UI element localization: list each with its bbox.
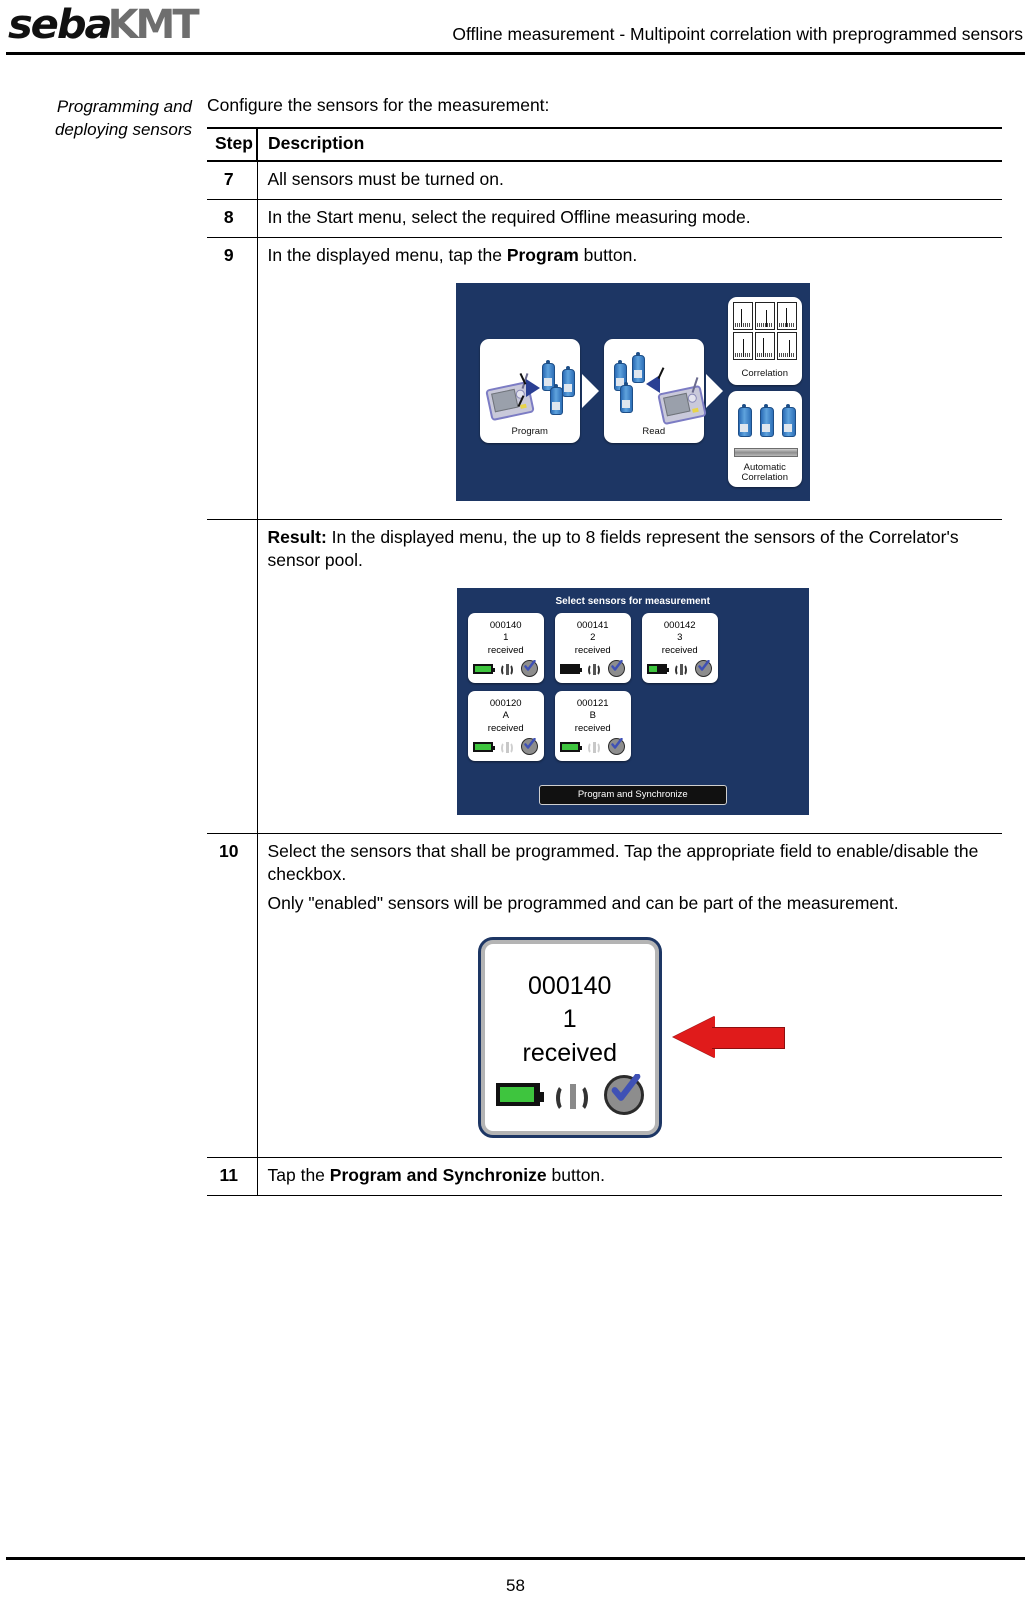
table-head: Step Description: [207, 128, 1002, 161]
red-pointer-arrow-icon: [673, 1016, 785, 1058]
result-label: Result:: [268, 527, 327, 547]
step9-bold-term: Program: [507, 245, 579, 265]
pipe-icon: [734, 448, 798, 457]
signal-antenna-icon: [498, 740, 516, 753]
sensor-id: 000140: [490, 620, 522, 631]
battery-level: [475, 666, 491, 672]
table-row: 9 In the displayed menu, tap the Program…: [207, 237, 1002, 519]
plot-noise-icon: [779, 323, 795, 327]
plot-peak-icon: [789, 340, 790, 357]
arrow-head: [673, 1016, 715, 1058]
workflow-diagram: Program: [456, 283, 810, 501]
workflow-arrow-icon: [706, 374, 723, 408]
checkmark-glyph: [524, 660, 536, 672]
result-text: In the displayed menu, the up to 8 field…: [268, 527, 959, 570]
table-body: 7 All sensors must be turned on. 8 In th…: [207, 161, 1002, 1195]
sensor-tile[interactable]: 000142 3 received: [642, 613, 718, 683]
step-description: All sensors must be turned on.: [257, 161, 1002, 200]
sensor-status: received: [488, 645, 524, 656]
page-number: 58: [0, 1576, 1031, 1596]
sensor-capsule-icon: [738, 407, 752, 437]
correlation-plot-icon: [733, 332, 753, 360]
sensor-tile-label: 000140 1 received: [468, 620, 544, 656]
sensor-channel: 2: [590, 632, 595, 643]
plot-peak-icon: [743, 339, 744, 357]
highlighted-sensor-status: received: [523, 1039, 618, 1067]
sensor-pool-title: Select sensors for measurement: [457, 595, 809, 608]
sensor-id: 000141: [577, 620, 609, 631]
signal-antenna-icon: [498, 662, 516, 675]
sensor-status: received: [662, 645, 698, 656]
highlighted-tile-label: 000140 1 received: [485, 970, 655, 1071]
workflow-panel-program: Program: [480, 339, 580, 443]
signal-wave-right: [680, 664, 687, 676]
plot-peak-icon: [766, 310, 767, 327]
sensor-tile-label: 000142 3 received: [642, 620, 718, 656]
device-led-icon: [692, 408, 699, 413]
sensor-channel: 1: [503, 632, 508, 643]
step11-bold-term: Program and Synchronize: [330, 1165, 547, 1185]
sensor-tip-icon: [546, 360, 550, 364]
step-number: 11: [207, 1157, 257, 1195]
column-header-description: Description: [257, 128, 1002, 161]
correlation-plot-icon: [777, 332, 797, 360]
sensor-channel: A: [503, 710, 509, 721]
correlation-plot-icon: [755, 332, 775, 360]
signal-wave-right: [506, 664, 513, 676]
sensor-tile[interactable]: 000140 1 received: [468, 613, 544, 683]
checkmark-glyph: [611, 1074, 641, 1104]
sensor-tip-icon: [764, 404, 768, 408]
sensor-capsule-icon: [562, 369, 575, 397]
sensor-capsule-icon: [632, 355, 645, 383]
sensor-capsule-icon: [782, 407, 796, 437]
checkmark-glyph: [611, 738, 623, 750]
table-row: 7 All sensors must be turned on.: [207, 161, 1002, 200]
step-result: Result: In the displayed menu, the up to…: [257, 520, 1002, 834]
sensor-status: received: [575, 645, 611, 656]
checkmark-glyph: [611, 660, 623, 672]
battery-icon: [473, 742, 493, 752]
workflow-panel-correlation-label: Correlation: [728, 368, 802, 381]
sensor-tip-icon: [618, 360, 622, 364]
document-page: sebaKMT Offline measurement - Multipoint…: [0, 0, 1031, 1618]
plot-peak-icon: [741, 309, 742, 327]
workflow-panel-auto-label: Automatic Correlation: [728, 463, 802, 484]
battery-icon: [473, 664, 493, 674]
highlighted-sensor-channel: 1: [563, 1005, 577, 1033]
step10-line2: Only "enabled" sensors will be programme…: [268, 892, 999, 915]
sensor-tip-icon: [624, 382, 628, 386]
correlation-plots-group: [733, 302, 797, 360]
workflow-panel-automatic-correlation: Automatic Correlation: [728, 391, 802, 487]
plot-peak-icon: [763, 338, 764, 357]
step-number: 8: [207, 199, 257, 237]
arrow-shaft: [712, 1027, 785, 1049]
signal-antenna-icon: [585, 740, 603, 753]
correlation-plot-icon: [733, 302, 753, 330]
sensor-tile-label: 000141 2 received: [555, 620, 631, 656]
sensor-tile-icons: [468, 660, 544, 677]
step9-text-before: In the displayed menu, tap the: [268, 245, 507, 265]
battery-icon: [496, 1083, 540, 1106]
workflow-figure-wrapper: Program: [268, 269, 999, 511]
workflow-panel-read: Read: [604, 339, 704, 443]
workflow-panel-auto-line1: Automatic: [744, 462, 786, 473]
table-row: 10 Select the sensors that shall be prog…: [207, 834, 1002, 1157]
checkmark-glyph: [524, 738, 536, 750]
workflow-panel-read-label: Read: [604, 426, 704, 439]
plot-peak-icon: [786, 308, 787, 327]
sensor-tile-icons: [468, 738, 544, 755]
step-description: Select the sensors that shall be program…: [257, 834, 1002, 1157]
sensor-tile-icons: [555, 738, 631, 755]
table-header-row: Step Description: [207, 128, 1002, 161]
steps-table: Step Description 7 All sensors must be t…: [207, 127, 1002, 1196]
sensor-tip-icon: [786, 404, 790, 408]
signal-wave-right: [506, 742, 513, 754]
highlighted-tile-figure: 000140 1 received: [268, 918, 999, 1149]
step9-instruction: In the displayed menu, tap the Program b…: [268, 244, 999, 267]
checkbox-icon[interactable]: [604, 1075, 644, 1115]
column-header-step: Step: [207, 128, 257, 161]
sensor-pool-screen: Select sensors for measurement 000140 1 …: [457, 588, 809, 815]
sensor-tile-grid: 000140 1 received: [468, 613, 800, 761]
checkbox-icon[interactable]: [521, 738, 538, 755]
table-row: 11 Tap the Program and Synchronize butto…: [207, 1157, 1002, 1195]
program-and-synchronize-button[interactable]: Program and Synchronize: [539, 785, 727, 805]
battery-icon: [560, 742, 580, 752]
sensor-tip-icon: [636, 352, 640, 356]
sensor-tile[interactable]: 000120 A received: [468, 691, 544, 761]
signal-antenna-icon: [672, 662, 690, 675]
radio-burst-icon: [526, 379, 540, 397]
sensor-status: received: [488, 723, 524, 734]
workflow-panel-correlation: Correlation: [728, 297, 802, 385]
sensor-tile[interactable]: 000141 2 received: [555, 613, 631, 683]
device-knob-icon: [687, 393, 698, 404]
sensor-id: 000121: [577, 698, 609, 709]
table-row: 8 In the Start menu, select the required…: [207, 199, 1002, 237]
signal-antenna-icon: [552, 1080, 592, 1110]
logo-text-seba: seba: [8, 5, 111, 45]
sebakmt-logo: sebaKMT: [8, 4, 197, 46]
step10-line1: Select the sensors that shall be program…: [268, 840, 999, 886]
step-number: 9: [207, 237, 257, 519]
workflow-panel-auto-line2: Correlation: [742, 472, 788, 483]
checkbox-icon[interactable]: [521, 660, 538, 677]
highlighted-sensor-tile[interactable]: 000140 1 received: [481, 940, 659, 1135]
header-divider: [6, 52, 1025, 55]
footer-divider: [6, 1557, 1025, 1560]
sensor-tile-icons: [555, 660, 631, 677]
step-number: 10: [207, 834, 257, 1157]
page-title: Offline measurement - Multipoint correla…: [452, 24, 1023, 45]
battery-level: [562, 744, 578, 750]
signal-wave-right: [572, 1084, 588, 1112]
sensor-tip-icon: [566, 366, 570, 370]
correlation-plot-icon: [777, 302, 797, 330]
result-paragraph: Result: In the displayed menu, the up to…: [268, 526, 999, 572]
sensor-tile-label: 000120 A received: [468, 698, 544, 734]
margin-note: Programming and deploying sensors: [22, 96, 192, 142]
sensor-channel: B: [590, 710, 596, 721]
correlator-device-icon: [657, 385, 707, 425]
highlighted-tile-icons: [485, 1075, 655, 1115]
signal-wave-right: [593, 742, 600, 754]
checkbox-icon[interactable]: [608, 738, 625, 755]
content-column: Configure the sensors for the measuremen…: [207, 94, 1002, 1196]
spark-line-icon: [657, 367, 663, 379]
sensor-tip-icon: [554, 384, 558, 388]
sensor-status: received: [575, 723, 611, 734]
battery-level: [649, 666, 657, 672]
sensor-tile-label: 000121 B received: [555, 698, 631, 734]
checkbox-icon[interactable]: [608, 660, 625, 677]
step11-text-before: Tap the: [268, 1165, 330, 1185]
sensor-id: 000142: [664, 620, 696, 631]
intro-text: Configure the sensors for the measuremen…: [207, 94, 1002, 117]
correlation-plot-icon: [755, 302, 775, 330]
sensor-tile[interactable]: 000121 B received: [555, 691, 631, 761]
logo-text-kmt: KMT: [108, 5, 197, 45]
sensor-capsule-icon: [620, 385, 633, 413]
step11-text-after: button.: [547, 1165, 605, 1185]
workflow-arrow-icon: [582, 374, 599, 408]
plot-noise-icon: [757, 353, 773, 357]
table-row: Result: In the displayed menu, the up to…: [207, 520, 1002, 834]
highlighted-sensor-id: 000140: [528, 972, 611, 1000]
device-led-icon: [520, 404, 527, 409]
battery-level: [475, 744, 491, 750]
checkmark-glyph: [698, 660, 710, 672]
sensor-channel: 3: [677, 632, 682, 643]
checkbox-icon[interactable]: [695, 660, 712, 677]
plot-noise-icon: [779, 353, 795, 357]
sensor-id: 000120: [490, 698, 522, 709]
plot-noise-icon: [735, 323, 751, 327]
workflow-panel-program-label: Program: [480, 426, 580, 439]
page-header: sebaKMT Offline measurement - Multipoint…: [0, 0, 1031, 58]
sensor-pool-figure-wrapper: Select sensors for measurement 000140 1 …: [268, 574, 999, 825]
sensor-capsule-icon: [550, 387, 563, 415]
sensor-tip-icon: [742, 404, 746, 408]
battery-icon: [647, 664, 667, 674]
signal-wave-right: [593, 664, 600, 676]
battery-level: [500, 1087, 534, 1102]
step-number: 7: [207, 161, 257, 200]
step9-text-after: button.: [579, 245, 637, 265]
battery-icon: [560, 664, 580, 674]
step-description: In the displayed menu, tap the Program b…: [257, 237, 1002, 519]
sensor-tile-icons: [642, 660, 718, 677]
step-number-spacer: [207, 520, 257, 834]
step-description: Tap the Program and Synchronize button.: [257, 1157, 1002, 1195]
signal-antenna-icon: [585, 662, 603, 675]
step-description: In the Start menu, select the required O…: [257, 199, 1002, 237]
plot-noise-icon: [757, 323, 773, 327]
sensor-capsule-icon: [760, 407, 774, 437]
